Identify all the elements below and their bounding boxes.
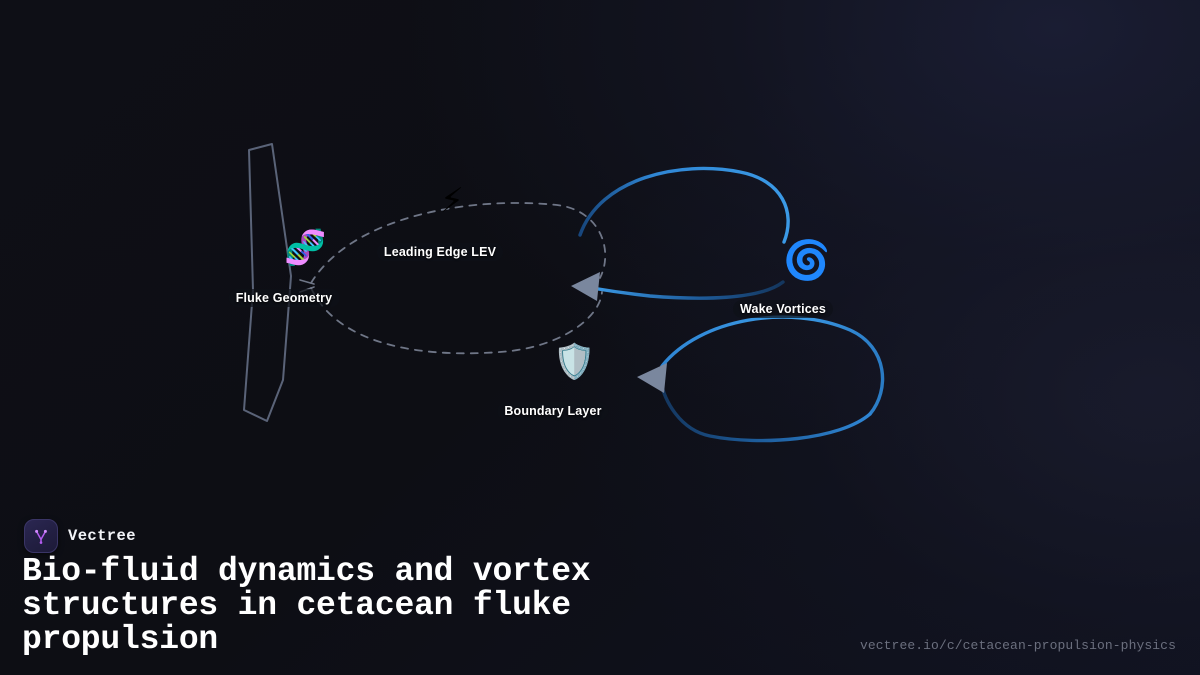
vectree-branch-logo-icon (24, 519, 58, 553)
card-footer: Vectree Bio-fluid dynamics and vortex st… (0, 495, 1200, 675)
node-label-boundary-layer: Boundary Layer (497, 402, 608, 420)
brand-name: Vectree (68, 527, 136, 545)
edge-wake-upper-arrowhead (571, 272, 600, 301)
social-card-canvas: 🧬 ⚡ 🛡️ 🌀 Fluke Geometry Leading Edge LEV… (0, 0, 1200, 675)
edge-wake-lower-arrowhead (637, 363, 667, 393)
node-label-leading-edge-lev: Leading Edge LEV (377, 243, 503, 261)
node-label-fluke-geometry: Fluke Geometry (229, 289, 340, 307)
edge-wake-lower-outbound (662, 317, 883, 414)
node-label-wake-vortices: Wake Vortices (733, 300, 833, 318)
site-url: vectree.io/c/cetacean-propulsion-physics (860, 638, 1176, 653)
page-title: Bio-fluid dynamics and vortex structures… (22, 555, 722, 657)
edge-wake-upper-return (592, 282, 783, 298)
edge-wake-upper-outbound (580, 168, 788, 242)
fluke-geometry-shape (244, 144, 291, 421)
brand-row: Vectree (24, 519, 136, 553)
concept-diagram: 🧬 ⚡ 🛡️ 🌀 Fluke Geometry Leading Edge LEV… (0, 0, 1200, 480)
edge-wake-lower-return (661, 382, 870, 441)
